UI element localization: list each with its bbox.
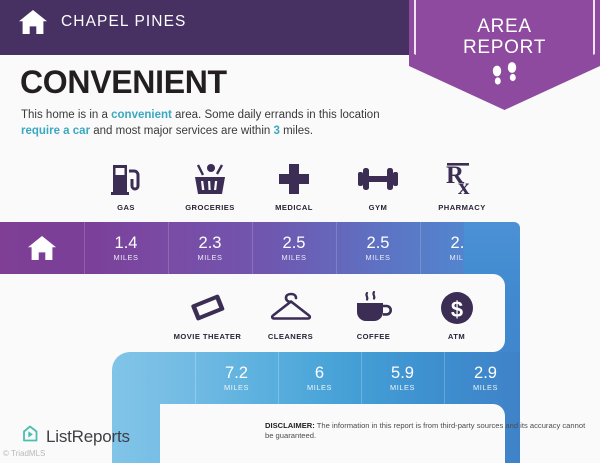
category-label: CLEANERS	[268, 332, 313, 341]
distance-cell-groceries: 2.3 MILES	[168, 222, 252, 274]
category-groceries: GROCERIES	[168, 160, 252, 212]
category-label: MOVIE THEATER	[174, 332, 242, 341]
distance-unit: MILES	[282, 253, 307, 262]
desc-part-2: area. Some daily errands in this locatio…	[172, 109, 380, 121]
movie-ticket-icon	[189, 289, 227, 327]
distance-unit: MILES	[366, 253, 391, 262]
listreports-logo-text: ListReports	[46, 427, 130, 447]
distance-value: 2.5	[283, 235, 306, 252]
badge-line-2: REPORT	[409, 37, 600, 58]
distance-cell-medical: 2.5 MILES	[252, 222, 336, 274]
distance-unit: MILES	[198, 253, 223, 262]
distance-value: 6	[315, 365, 324, 382]
desc-highlight-require-car: require a car	[21, 125, 90, 137]
distance-unit: MILES	[114, 253, 139, 262]
category-label: GAS	[117, 203, 135, 212]
atm-dollar-icon: $	[439, 289, 475, 327]
distance-cell-gas: 1.4 MILES	[84, 222, 168, 274]
category-medical: MEDICAL	[252, 160, 336, 212]
category-cleaners: CLEANERS	[249, 289, 332, 341]
category-label: GROCERIES	[185, 203, 235, 212]
disclaimer: DISCLAIMER: The information in this repo…	[265, 421, 587, 441]
svg-text:x: x	[458, 174, 470, 197]
distance-bar-primary: 1.4 MILES 2.3 MILES 2.5 MILES 2.5 MILES …	[0, 222, 520, 274]
distance-cell-gym: 2.5 MILES	[336, 222, 420, 274]
icon-row-secondary: MOVIE THEATER CLEANERS COFFEE $ ATM	[166, 289, 498, 341]
distance-cell-movie-theater: 7.2 MILES	[195, 352, 278, 404]
medical-cross-icon	[277, 160, 311, 198]
dumbbell-icon	[357, 160, 399, 198]
distance-value: 7.2	[225, 365, 248, 382]
listreports-logo-icon	[21, 425, 40, 449]
footprints-icon	[409, 60, 600, 92]
distance-value: 5.9	[391, 365, 414, 382]
distance-value: 2.9	[474, 365, 497, 382]
category-label: MEDICAL	[275, 203, 313, 212]
clothes-hanger-icon	[269, 289, 313, 327]
badge-line-1: AREA	[409, 16, 600, 37]
distance-value: 2.5	[367, 235, 390, 252]
category-label: PHARMACY	[438, 203, 485, 212]
icon-row-primary: GAS GROCERIES MEDICAL GYM Rx PHARMACY	[84, 160, 504, 212]
page-title: CONVENIENT	[20, 64, 227, 101]
house-icon	[18, 8, 48, 36]
category-label: GYM	[369, 203, 388, 212]
disclaimer-label: DISCLAIMER:	[265, 421, 315, 430]
desc-part-4: miles.	[280, 125, 313, 137]
category-pharmacy: Rx PHARMACY	[420, 160, 504, 212]
category-movie-theater: MOVIE THEATER	[166, 289, 249, 341]
coffee-cup-icon	[354, 289, 394, 327]
distance-unit: MILES	[390, 383, 415, 392]
category-atm: $ ATM	[415, 289, 498, 341]
house-icon	[0, 222, 84, 274]
desc-part-3: and most major services are within	[90, 125, 273, 137]
category-label: COFFEE	[357, 332, 391, 341]
badge-text: AREA REPORT	[409, 16, 600, 58]
distance-values-secondary: 7.2 MILES 6 MILES 5.9 MILES 2.9 MILES	[195, 352, 527, 404]
category-gym: GYM	[336, 160, 420, 212]
community-name: CHAPEL PINES	[61, 13, 186, 31]
description-text: This home is in a convenient area. Some …	[21, 108, 421, 139]
desc-part-1: This home is in a	[21, 109, 111, 121]
shopping-basket-icon	[191, 160, 229, 198]
prescription-rx-icon: Rx	[444, 160, 480, 198]
distance-cell-cleaners: 6 MILES	[278, 352, 361, 404]
svg-text:$: $	[450, 297, 462, 322]
category-gas: GAS	[84, 160, 168, 212]
desc-highlight-convenient: convenient	[111, 109, 172, 121]
area-report-infographic: CHAPEL PINES AREA REPORT CONVENIENT This…	[0, 0, 600, 463]
listreports-logo: ListReports	[21, 425, 130, 449]
category-coffee: COFFEE	[332, 289, 415, 341]
distance-value: 1.4	[115, 235, 138, 252]
gas-pump-icon	[109, 160, 143, 198]
distance-value: 2.3	[199, 235, 222, 252]
category-label: ATM	[448, 332, 465, 341]
distance-unit: MILES	[307, 383, 332, 392]
distance-unit: MILES	[224, 383, 249, 392]
distance-unit: MILES	[473, 383, 498, 392]
distance-cell-coffee: 5.9 MILES	[361, 352, 444, 404]
mls-credit: © TriadMLS	[3, 449, 45, 458]
distance-cell-atm: 2.9 MILES	[444, 352, 527, 404]
